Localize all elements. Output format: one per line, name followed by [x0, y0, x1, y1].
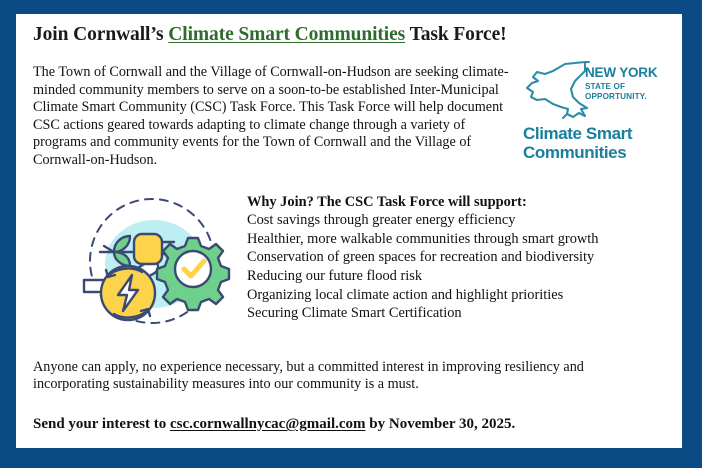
sustainability-illustration: [70, 192, 235, 330]
logo-state-line2: STATE OF: [585, 82, 657, 92]
flyer-poster: Join Cornwall’s Climate Smart Communitie…: [0, 0, 702, 468]
closing-paragraph: Anyone can apply, no experience necessar…: [33, 359, 633, 394]
benefits-heading: Why Join? The CSC Task Force will suppor…: [247, 193, 667, 212]
logo-state-line3: OPPORTUNITY.: [585, 92, 657, 102]
benefits-list: Why Join? The CSC Task Force will suppor…: [247, 193, 667, 323]
title-trail: Task Force!: [405, 24, 506, 45]
list-item: Reducing our future flood risk: [247, 267, 667, 286]
list-item: Healthier, more walkable communities thr…: [247, 230, 667, 249]
title-lead: Join Cornwall’s: [33, 24, 168, 45]
page-title: Join Cornwall’s Climate Smart Communitie…: [33, 23, 672, 47]
flyer-content: Join Cornwall’s Climate Smart Communitie…: [33, 23, 672, 448]
intro-section: The Town of Cornwall and the Village of …: [33, 64, 672, 170]
climate-smart-communities-logo: NEW YORK STATE OF OPPORTUNITY. Climate S…: [523, 59, 663, 162]
signoff-trail: by November 30, 2025.: [366, 416, 516, 432]
title-highlight: Climate Smart Communities: [168, 24, 405, 45]
list-item: Cost savings through greater energy effi…: [247, 211, 667, 230]
list-item: Conservation of green spaces for recreat…: [247, 248, 667, 267]
list-item: Organizing local climate action and high…: [247, 286, 667, 305]
yellow-lightning-bolt-circle-icon: [101, 266, 155, 320]
green-gear-with-checkmark-icon: [157, 238, 229, 310]
program-wordmark: Climate Smart Communities: [523, 125, 663, 162]
new-york-state-map-icon: [523, 59, 593, 121]
signoff-lead: Send your interest to: [33, 416, 170, 432]
program-line1: Climate Smart: [523, 125, 663, 144]
logo-state-line1: NEW YORK: [585, 66, 657, 80]
intro-paragraph: The Town of Cornwall and the Village of …: [33, 64, 520, 170]
flyer-page: Join Cornwall’s Climate Smart Communitie…: [16, 14, 682, 448]
list-item: Securing Climate Smart Certification: [247, 304, 667, 323]
new-york-state-wordmark: NEW YORK STATE OF OPPORTUNITY.: [585, 66, 657, 101]
contact-email-link[interactable]: csc.cornwallnycac@gmail.com: [170, 416, 366, 432]
benefits-section: Why Join? The CSC Task Force will suppor…: [33, 192, 672, 332]
program-line2: Communities: [523, 144, 663, 163]
signoff-line: Send your interest to csc.cornwallnycac@…: [33, 415, 672, 434]
new-york-state-logo: NEW YORK STATE OF OPPORTUNITY.: [523, 59, 663, 123]
